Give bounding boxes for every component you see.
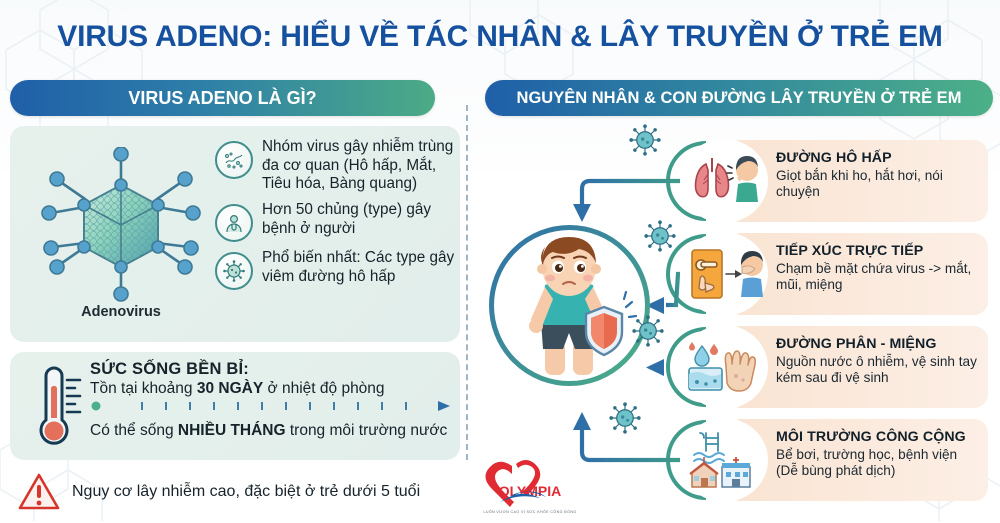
page-title: VIRUS ADENO: HIỂU VỀ TÁC NHÂN & LÂY TRUY…: [57, 20, 942, 54]
list-item-label: Phổ biến nhất: Các type gây viêm đường h…: [262, 249, 455, 286]
route-text-block: MÔI TRƯỜNG CÔNG CỘNG Bể bơi, trường học,…: [776, 429, 982, 480]
route-text-block: ĐƯỜNG HÔ HẤP Giọt bắn khi ho, hắt hơi, n…: [776, 150, 982, 201]
survival-line1-bold: 30 NGÀY: [197, 380, 263, 397]
left-panel-heading-label: VIRUS ADENO LÀ GÌ?: [128, 88, 316, 109]
infographic-title-bar: VIRUS ADENO: HIỂU VỀ TÁC NHÂN & LÂY TRUY…: [0, 0, 1000, 74]
adenovirus-capsid-icon: [41, 147, 201, 302]
child-with-shield-icon: [487, 223, 652, 388]
list-item: Phổ biến nhất: Các type gây viêm đường h…: [215, 249, 455, 290]
virus-spread-icon: [215, 141, 253, 179]
adenovirus-facts-list: Nhóm virus gây nhiễm trùng đa cơ quan (H…: [215, 138, 455, 297]
warning-triangle-icon: [18, 472, 60, 512]
right-panel-heading-label: NGUYÊN NHÂN & CON ĐƯỜNG LÂY TRUYỀN Ở TRẺ…: [517, 89, 962, 108]
logo-tagline: LUÔN VƯƠN CAO VÌ SỨC KHỎE CỘNG ĐỒNG: [483, 509, 576, 514]
route-description: Chạm bề mặt chứa virus -> mắt, mũi, miện…: [776, 261, 982, 294]
doctor-icon: [215, 204, 253, 242]
route-title: TIẾP XÚC TRỰC TIẾP: [776, 243, 982, 259]
route-title: ĐƯỜNG PHÂN - MIỆNG: [776, 336, 982, 352]
transmission-route-card[interactable]: TIẾP XÚC TRỰC TIẾP Chạm bề mặt chứa viru…: [726, 233, 988, 315]
transmission-route-card[interactable]: MÔI TRƯỜNG CÔNG CỘNG Bể bơi, trường học,…: [726, 419, 988, 501]
transmission-route-card[interactable]: ĐƯỜNG HÔ HẤP Giọt bắn khi ho, hắt hơi, n…: [726, 140, 988, 222]
survival-line2-bold: NHIỀU THÁNG: [178, 422, 286, 439]
route-description: Bể bơi, trường học, bệnh viện (Dễ bùng p…: [776, 447, 982, 480]
right-panel-heading: NGUYÊN NHÂN & CON ĐƯỜNG LÂY TRUYỀN Ở TRẺ…: [485, 80, 993, 116]
lungs-cough-icon: [680, 139, 768, 223]
list-item: Nhóm virus gây nhiễm trùng đa cơ quan (H…: [215, 138, 455, 194]
route-text-block: TIẾP XÚC TRỰC TIẾP Chạm bề mặt chứa viru…: [776, 243, 982, 294]
survival-line1-post: ở nhiệt độ phòng: [263, 380, 384, 397]
survival-line2-post: trong môi trường nước: [286, 422, 448, 439]
contaminated-water-hands-icon: [680, 325, 768, 409]
adenovirus-label: Adenovirus: [81, 304, 161, 320]
list-item: Hơn 50 chủng (type) gây bệnh ở người: [215, 201, 455, 242]
list-item-label: Hơn 50 chủng (type) gây bệnh ở người: [262, 201, 455, 238]
transmission-route-card[interactable]: ĐƯỜNG PHÂN - MIỆNG Nguồn nước ô nhiễm, v…: [726, 326, 988, 408]
survival-line1-pre: Tồn tại khoảng: [90, 380, 197, 397]
timeline-axis: [90, 399, 450, 413]
route-description: Giọt bắn khi ho, hắt hơi, nói chuyện: [776, 168, 982, 201]
survival-title: SỨC SỐNG BỀN BỈ:: [90, 360, 455, 379]
virus-cell-icon: [215, 252, 253, 290]
route-title: ĐƯỜNG HÔ HẤP: [776, 150, 982, 166]
warning-row: Nguy cơ lây nhiễm cao, đặc biệt ở trẻ dư…: [18, 468, 468, 516]
survival-line-1: Tồn tại khoảng 30 NGÀY ở nhiệt độ phòng: [90, 380, 455, 398]
survival-line-2: Có thể sống NHIỀU THÁNG trong môi trường…: [90, 422, 455, 440]
adenovirus-illustration: Adenovirus: [26, 136, 216, 331]
survival-line2-pre: Có thể sống: [90, 422, 178, 439]
left-panel-heading: VIRUS ADENO LÀ GÌ?: [10, 80, 435, 116]
route-title: MÔI TRƯỜNG CÔNG CỘNG: [776, 429, 982, 445]
transmission-diagram: ĐƯỜNG HÔ HẤP Giọt bắn khi ho, hắt hơi, n…: [470, 118, 1000, 521]
route-description: Nguồn nước ô nhiễm, vệ sinh tay kém sau …: [776, 354, 982, 387]
survival-card: SỨC SỐNG BỀN BỈ: Tồn tại khoảng 30 NGÀY …: [10, 352, 460, 460]
warning-text: Nguy cơ lây nhiễm cao, đặc biệt ở trẻ dư…: [72, 483, 420, 501]
logo-name: OLYMPIA: [499, 483, 562, 499]
route-text-block: ĐƯỜNG PHÂN - MIỆNG Nguồn nước ô nhiễm, v…: [776, 336, 982, 387]
panel-divider: [466, 105, 468, 460]
thermometer-icon: [22, 362, 92, 452]
survival-text-block: SỨC SỐNG BỀN BỈ: Tồn tại khoảng 30 NGÀY …: [90, 360, 455, 440]
what-is-adenovirus-card: Adenovirus Nhóm virus gây nhiễm trùng đa…: [10, 126, 460, 342]
public-places-icon: [680, 418, 768, 502]
olympia-heart-logo: OLYMPIA LUÔN VƯƠN CAO VÌ SỨC KHỎE CỘNG Đ…: [478, 456, 583, 518]
doorknob-touch-face-icon: [680, 232, 768, 316]
list-item-label: Nhóm virus gây nhiễm trùng đa cơ quan (H…: [262, 138, 455, 194]
